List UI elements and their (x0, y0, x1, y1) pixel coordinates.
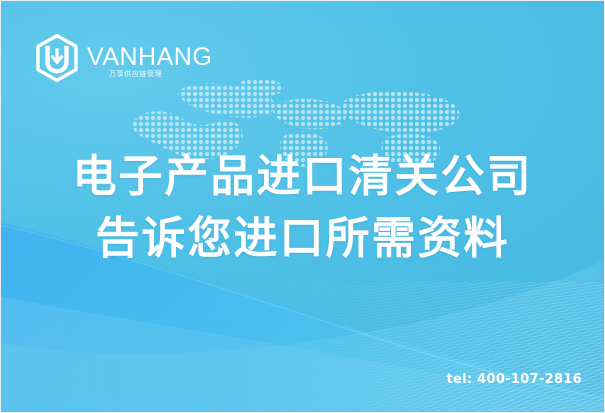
contact-phone[interactable]: tel: 400-107-2816 (446, 372, 582, 387)
hexagon-u-arrow-logo-icon (35, 34, 79, 82)
brand-wordmark-group: VANHANG 万享供应链管理 (87, 45, 212, 72)
brand-subtitle: 万享供应链管理 (109, 71, 162, 78)
headline: 电子产品进口清关公司 告诉您进口所需资料 (1, 146, 604, 270)
headline-line-1: 电子产品进口清关公司 (1, 146, 604, 208)
promo-banner: VANHANG 万享供应链管理 电子产品进口清关公司 告诉您进口所需资料 tel… (0, 0, 605, 413)
headline-line-2: 告诉您进口所需资料 (1, 208, 604, 270)
brand-wordmark: VANHANG (87, 45, 212, 70)
brand-logo[interactable]: VANHANG 万享供应链管理 (35, 34, 212, 82)
